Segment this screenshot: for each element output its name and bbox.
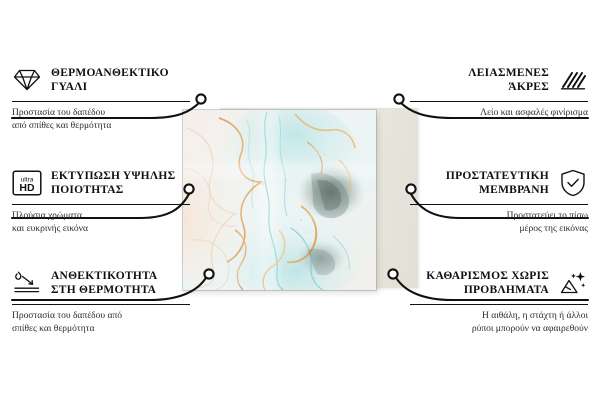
feature-divider: [12, 204, 190, 205]
feature-divider: [410, 101, 588, 102]
feature-title: ΘΕΡΜΟΑΝΘΕΚΤΙΚΟ ΓΥΑΛΙ: [51, 66, 169, 94]
feature-divider: [12, 304, 190, 305]
feature-description: Προστατεύει το πίσω μέρος της εικόνας: [410, 210, 588, 235]
feature-title: ΠΡΟΣΤΑΤΕΥΤΙΚΗ ΜΕΜΒΡΑΝΗ: [446, 169, 549, 197]
feature-divider: [410, 204, 588, 205]
feature-header: ΠΡΟΣΤΑΤΕΥΤΙΚΗ ΜΕΜΒΡΑΝΗ: [410, 166, 588, 200]
feature-heat-resistance: ΑΝΘΕΚΤΙΚΟΤΗΤΑ ΣΤΗ ΘΕΡΜΟΤΗΤΑ Προστασία το…: [12, 266, 190, 335]
heat-resistance-icon: [12, 268, 42, 298]
feature-title: ΕΚΤΥΠΩΣΗ ΥΨΗΛΗΣ ΠΟΙΟΤΗΤΑΣ: [51, 169, 175, 197]
product-image-glass-panel: [183, 110, 376, 290]
feature-header: ultra HD ΕΚΤΥΠΩΣΗ ΥΨΗΛΗΣ ΠΟΙΟΤΗΤΑΣ: [12, 166, 190, 200]
shield-check-icon: [558, 168, 588, 198]
feature-title: ΛΕΙΑΣΜΕΝΕΣ ΆΚΡΕΣ: [468, 66, 549, 94]
connector-dot-left-1: [196, 94, 205, 103]
product-stage: [175, 105, 425, 295]
marble-artwork: [183, 110, 376, 290]
infographic-root: ΘΕΡΜΟΑΝΘΕΚΤΙΚΟ ΓΥΑΛΙ Προστασία του δαπέδ…: [0, 0, 600, 400]
feature-description: Προστασία του δαπέδου από σπίθες και θερ…: [12, 107, 190, 132]
feature-header: ΘΕΡΜΟΑΝΘΕΚΤΙΚΟ ΓΥΑΛΙ: [12, 63, 190, 97]
feature-header: ΛΕΙΑΣΜΕΝΕΣ ΆΚΡΕΣ: [410, 63, 588, 97]
ultra-hd-icon: ultra HD: [12, 168, 42, 198]
feature-divider: [12, 101, 190, 102]
connector-dot-right-1: [394, 94, 403, 103]
feature-description: Η αιθάλη, η στάχτη ή άλλοι ρύποι μπορούν…: [410, 310, 588, 335]
easy-clean-icon: [558, 268, 588, 298]
polished-edges-icon: [558, 65, 588, 95]
feature-description: Λείο και ασφαλές φινίρισμα: [410, 107, 588, 120]
feature-title: ΑΝΘΕΚΤΙΚΟΤΗΤΑ ΣΤΗ ΘΕΡΜΟΤΗΤΑ: [51, 269, 157, 297]
feature-heat-resistant-glass: ΘΕΡΜΟΑΝΘΕΚΤΙΚΟ ΓΥΑΛΙ Προστασία του δαπέδ…: [12, 63, 190, 132]
feature-header: ΑΝΘΕΚΤΙΚΟΤΗΤΑ ΣΤΗ ΘΕΡΜΟΤΗΤΑ: [12, 266, 190, 300]
diamond-icon: [12, 65, 42, 95]
feature-polished-edges: ΛΕΙΑΣΜΕΝΕΣ ΆΚΡΕΣ Λείο και ασφαλές φινίρι…: [410, 63, 588, 120]
feature-header: ΚΑΘΑΡΙΣΜΟΣ ΧΩΡΙΣ ΠΡΟΒΛΗΜΑΤΑ: [410, 266, 588, 300]
feature-title: ΚΑΘΑΡΙΣΜΟΣ ΧΩΡΙΣ ΠΡΟΒΛΗΜΑΤΑ: [426, 269, 549, 297]
feature-description: Προστασία του δαπέδου από σπίθες και θερ…: [12, 310, 190, 335]
feature-description: Πλούσια χρώματα και ευκρινής εικόνα: [12, 210, 190, 235]
feature-high-quality-print: ultra HD ΕΚΤΥΠΩΣΗ ΥΨΗΛΗΣ ΠΟΙΟΤΗΤΑΣ Πλούσ…: [12, 166, 190, 235]
feature-divider: [410, 304, 588, 305]
feature-protective-membrane: ΠΡΟΣΤΑΤΕΥΤΙΚΗ ΜΕΜΒΡΑΝΗ Προστατεύει το πί…: [410, 166, 588, 235]
feature-easy-cleaning: ΚΑΘΑΡΙΣΜΟΣ ΧΩΡΙΣ ΠΡΟΒΛΗΜΑΤΑ Η αιθάλη, η …: [410, 266, 588, 335]
svg-text:HD: HD: [19, 182, 35, 194]
